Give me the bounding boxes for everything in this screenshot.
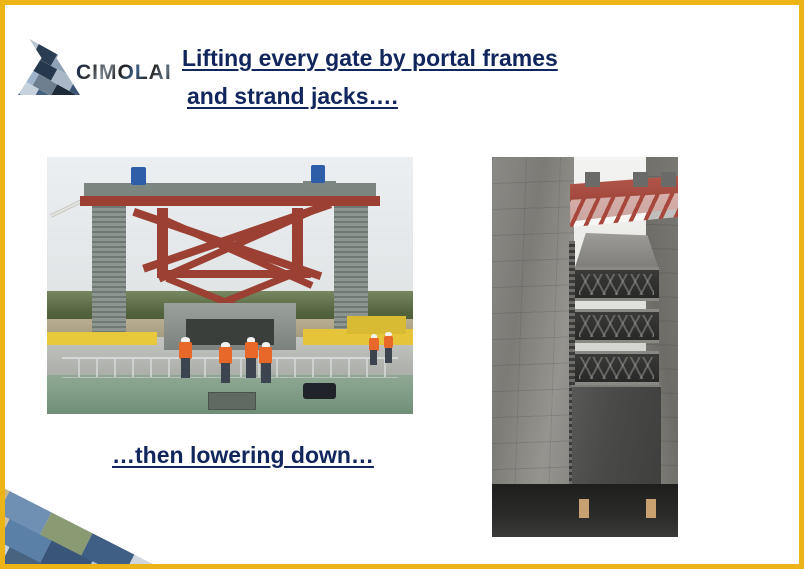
lock-gate-lowering-photo — [492, 157, 678, 537]
photo-yellow-guardrail-left — [47, 332, 157, 345]
photo-worker — [179, 337, 192, 378]
photo-work-light — [579, 499, 588, 518]
photo-worker — [245, 337, 258, 378]
photo-concrete-wall-left — [492, 157, 574, 537]
photo-worker — [384, 332, 394, 363]
photo-gate-lower-skin — [572, 385, 661, 484]
diagonal-photo-collage-stripe — [0, 410, 214, 569]
photo-vertical-post-right — [292, 208, 303, 275]
page-title-line-2: and strand jacks…. — [187, 81, 398, 111]
presentation-slide: CIMOLAI Lifting every gate by portal fra… — [0, 0, 804, 569]
photo-gate-opening — [186, 319, 274, 345]
cimolai-wordmark: CIMOLAI — [76, 61, 172, 85]
cimolai-chevron-logo-icon — [18, 21, 80, 95]
photo-gate-truss-panel — [574, 309, 660, 343]
photo-strand-jack-left — [131, 167, 146, 185]
slide-caption: …then lowering down… — [112, 442, 374, 469]
page-title-line-1: Lifting every gate by portal frames — [182, 43, 558, 73]
photo-lattice-tower-left — [92, 203, 126, 337]
photo-yellow-equipment — [347, 316, 406, 334]
photo-gantry-trolley — [661, 172, 676, 187]
cimolai-logo: CIMOLAI — [18, 21, 193, 95]
photo-gate-truss-panel — [574, 351, 660, 385]
photo-gantry-trolley — [585, 172, 600, 187]
photo-gate-head — [574, 233, 660, 271]
photo-worker — [259, 342, 272, 383]
photo-vertical-post-left — [157, 208, 168, 275]
photo-worker — [369, 334, 379, 365]
photo-gate-truss-panel — [574, 267, 660, 301]
photo-deck-hatch — [208, 392, 256, 410]
portal-frame-lifting-photo — [47, 157, 413, 414]
photo-equipment-bag — [303, 383, 336, 398]
photo-worker — [219, 342, 232, 383]
photo-strand-jack-right — [311, 165, 326, 183]
photo-work-light — [646, 499, 655, 518]
photo-gantry-trolley — [633, 172, 648, 187]
photo-portal-main-beam — [80, 196, 380, 206]
